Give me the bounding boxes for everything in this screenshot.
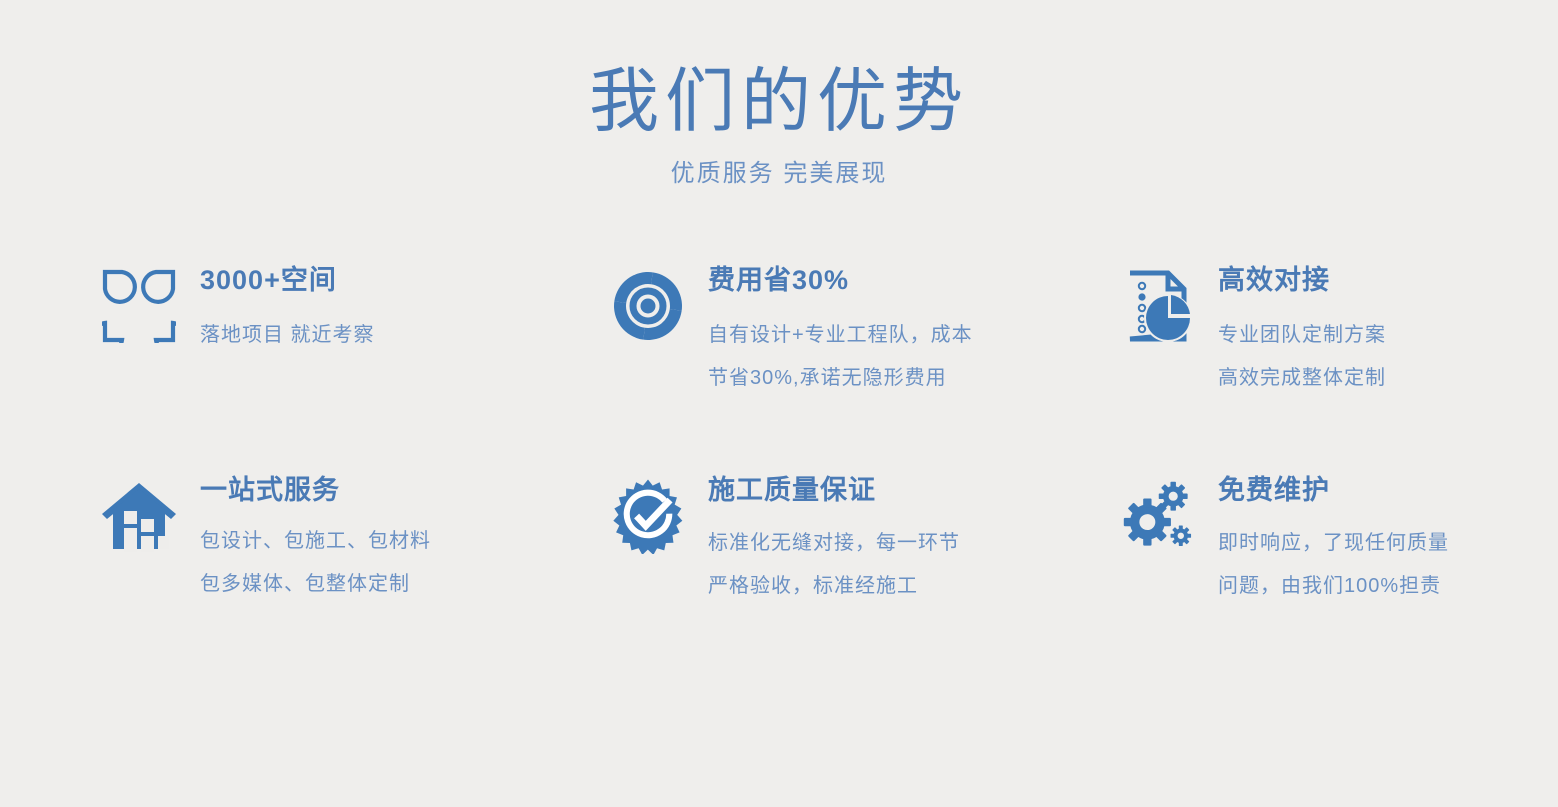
page-title: 我们的优势 [0,58,1558,144]
feature-desc-line: 节省30%,承诺无隐形费用 [708,357,1120,400]
feature-desc-line: 专业团队定制方案 [1218,314,1500,357]
feature-desc-line: 即时响应，了现任何质量 [1218,522,1500,565]
feature-text: 高效对接 专业团队定制方案 高效完成整体定制 [1218,262,1500,400]
badge-check-icon [610,476,686,556]
feature-desc-line: 包设计、包施工、包材料 [200,520,610,563]
feature-text: 一站式服务 包设计、包施工、包材料 包多媒体、包整体定制 [200,472,610,606]
feature-desc-line: 落地项目 就近考察 [200,314,610,357]
feature-desc-line: 自有设计+专业工程队，成本 [708,314,1120,357]
feature-title: 一站式服务 [200,472,610,508]
feature-item-quality-guarantee: 施工质量保证 标准化无缝对接，每一环节 严格验收，标准经施工 [610,472,1120,682]
target-icon [610,266,686,346]
section-header: 我们的优势 优质服务 完美展现 [0,58,1558,190]
feature-grid: 3000+空间 落地项目 就近考察 [100,262,1500,682]
house-icon [100,476,178,556]
feature-text: 免费维护 即时响应，了现任何质量 问题，由我们100%担责 [1218,472,1500,608]
feature-title: 费用省30% [708,262,1120,298]
feature-text: 3000+空间 落地项目 就近考察 [200,262,610,357]
feature-desc-line: 高效完成整体定制 [1218,357,1500,400]
feature-text: 施工质量保证 标准化无缝对接，每一环节 严格验收，标准经施工 [708,472,1120,608]
four-petals-icon [100,266,178,346]
feature-text: 费用省30% 自有设计+专业工程队，成本 节省30%,承诺无隐形费用 [708,262,1120,400]
document-pie-chart-icon [1120,266,1196,346]
page-subtitle: 优质服务 完美展现 [0,158,1558,190]
feature-item-cost-saving: 费用省30% 自有设计+专业工程队，成本 节省30%,承诺无隐形费用 [610,262,1120,472]
feature-item-one-stop-service: 一站式服务 包设计、包施工、包材料 包多媒体、包整体定制 [100,472,610,682]
feature-title: 施工质量保证 [708,472,1120,508]
feature-title: 免费维护 [1218,472,1500,508]
feature-title: 高效对接 [1218,262,1500,298]
feature-item-efficient-coordination: 高效对接 专业团队定制方案 高效完成整体定制 [1120,262,1500,472]
feature-item-space: 3000+空间 落地项目 就近考察 [100,262,610,472]
gears-icon [1120,476,1196,556]
feature-item-free-maintenance: 免费维护 即时响应，了现任何质量 问题，由我们100%担责 [1120,472,1500,682]
feature-desc-line: 标准化无缝对接，每一环节 [708,522,1120,565]
feature-desc-line: 包多媒体、包整体定制 [200,563,610,606]
advantages-section: 我们的优势 优质服务 完美展现 [0,0,1558,807]
feature-desc-line: 问题，由我们100%担责 [1218,565,1500,608]
feature-title: 3000+空间 [200,262,610,298]
feature-desc-line: 严格验收，标准经施工 [708,565,1120,608]
